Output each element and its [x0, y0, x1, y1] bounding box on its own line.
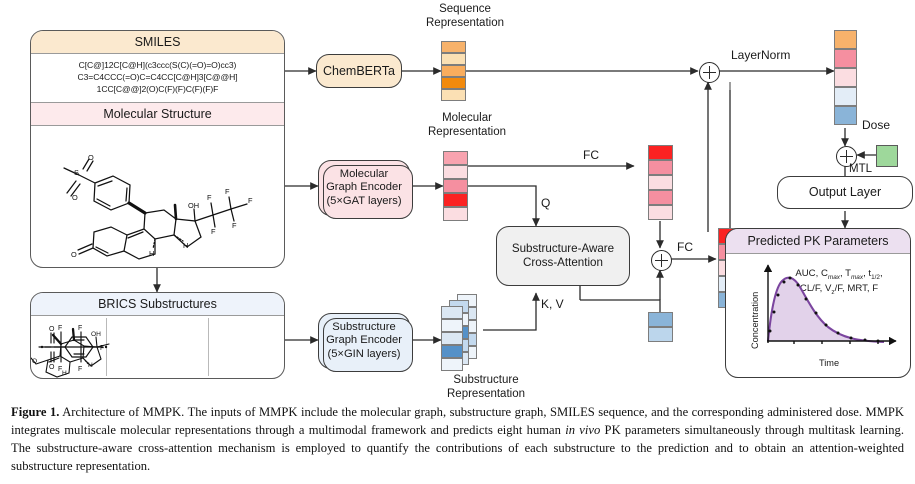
substructure-representation-vector-front — [441, 306, 463, 371]
substructure-graph-encoder-box: Substructure Graph Encoder (5×GIN layers… — [318, 313, 410, 369]
svg-text:OH: OH — [188, 201, 199, 210]
final-representation-vector — [834, 30, 857, 125]
svg-text:F: F — [100, 345, 104, 352]
figure-architecture-diagram: SMILES C[C@]12C[C@H](c3ccc(S(C)(=O)=O)cc… — [0, 0, 915, 400]
smiles-value: C[C@]12C[C@H](c3ccc(S(C)(=O)=O)cc3) C3=C… — [31, 54, 284, 102]
molecular-representation-vector — [443, 151, 468, 221]
caption-italic: in vivo — [565, 423, 600, 437]
pk-curve-plot — [754, 259, 904, 355]
svg-text:F: F — [58, 366, 62, 373]
svg-text:H: H — [149, 249, 154, 258]
molecular-structure-header: Molecular Structure — [31, 102, 284, 126]
add-operator-fusion — [651, 250, 672, 271]
svg-text:H: H — [183, 241, 188, 250]
svg-text:F: F — [58, 325, 62, 332]
svg-text:F: F — [248, 196, 253, 205]
key-value-label: K, V — [541, 297, 564, 311]
fc-mid-label: FC — [677, 240, 693, 254]
molecular-graph-encoder-box: Molecular Graph Encoder (5×GAT layers) — [318, 160, 410, 216]
svg-text:S: S — [74, 168, 79, 177]
smiles-header: SMILES — [31, 31, 284, 54]
dose-label: Dose — [862, 118, 890, 132]
figure-caption: Figure 1. Architecture of MMPK. The inpu… — [11, 404, 904, 476]
svg-text:F: F — [78, 325, 82, 332]
sequence-representation-label: Sequence Representation — [406, 3, 524, 30]
pk-x-axis-label: Time — [819, 358, 839, 368]
sequence-representation-vector — [441, 41, 466, 101]
molecule-drawing: O O O S OH F F F F F H H — [31, 153, 284, 265]
output-layer-box: Output Layer — [777, 176, 913, 209]
layernorm-label: LayerNorm — [731, 48, 790, 62]
svg-text:O: O — [72, 193, 78, 202]
svg-text:F: F — [232, 221, 237, 230]
svg-text:F: F — [78, 366, 82, 373]
cross-attention-box: Substructure-Aware Cross-Attention — [496, 226, 630, 286]
svg-text:O: O — [71, 250, 77, 259]
substructure-representation-label: Substructure Representation — [427, 374, 545, 401]
fc-molecular-vector — [648, 145, 673, 220]
chemberta-box: ChemBERTa — [316, 54, 402, 88]
fc-top-label: FC — [583, 148, 599, 162]
svg-text:F: F — [225, 187, 230, 196]
query-label: Q — [541, 196, 550, 210]
caption-label: Figure 1. — [11, 405, 59, 419]
brics-fragment-2: OH O H H — [107, 318, 209, 376]
pk-panel-title: Predicted PK Parameters — [726, 229, 910, 254]
brics-fragments: OO — [31, 318, 284, 376]
svg-text:F: F — [207, 193, 212, 202]
dose-swatch — [876, 145, 898, 167]
svg-text:O: O — [88, 153, 94, 162]
svg-text:F: F — [211, 227, 216, 236]
molecular-representation-label: Molecular Representation — [408, 112, 526, 139]
fc-substructure-vector — [648, 312, 673, 342]
input-card: SMILES C[C@]12C[C@H](c3ccc(S(C)(=O)=O)cc… — [30, 30, 285, 268]
brics-header: BRICS Substructures — [31, 293, 284, 316]
pk-y-axis-label: Concentration — [750, 292, 760, 349]
add-operator-layernorm — [699, 62, 720, 83]
brics-fragment-3: FF FF F — [209, 318, 284, 376]
brics-card: BRICS Substructures OO — [30, 292, 285, 379]
mtl-label: MTL — [849, 163, 872, 175]
pk-panel: Predicted PK Parameters AUC, Cmax, Tmax,… — [725, 228, 911, 378]
